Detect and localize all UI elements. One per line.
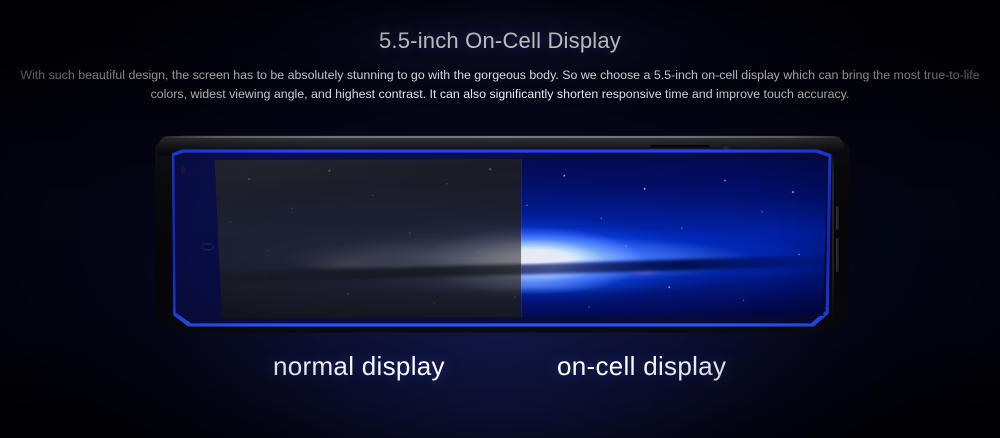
screen-half-oncell <box>521 156 830 320</box>
phone-screen <box>212 156 830 320</box>
volume-button <box>836 206 839 230</box>
screen-half-normal <box>212 156 521 320</box>
bezel-sensor-dot <box>203 245 212 249</box>
caption-normal-display: normal display <box>273 351 445 382</box>
promo-banner: 5.5-inch On-Cell Display With such beaut… <box>0 0 1000 438</box>
phone-mockup <box>0 0 1000 438</box>
speaker-slot-icon <box>650 145 710 149</box>
power-button <box>836 238 839 272</box>
screen-split-divider <box>521 156 522 320</box>
front-camera-icon <box>181 166 185 173</box>
caption-oncell-display: on-cell display <box>557 351 726 382</box>
phone-side-seam <box>832 152 834 322</box>
